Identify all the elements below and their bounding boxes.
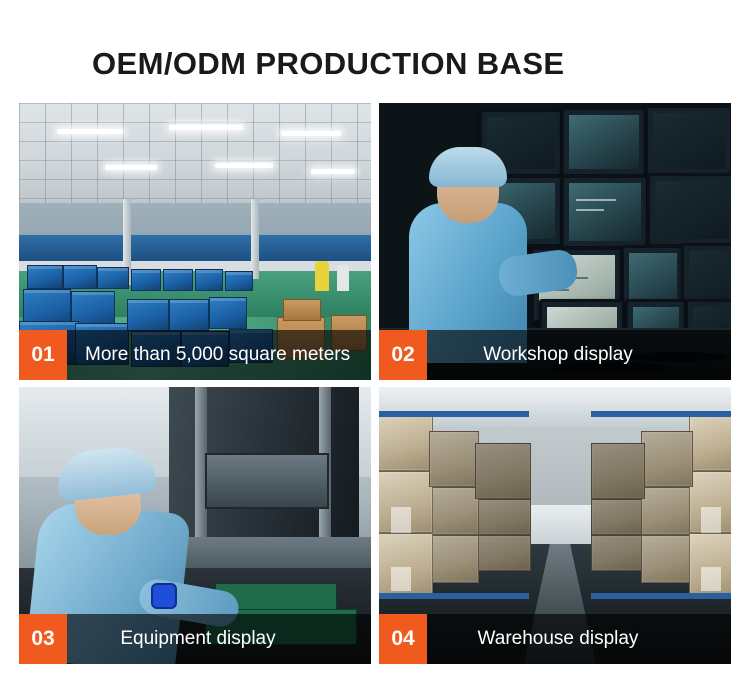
blue-crate [131, 269, 161, 291]
carton [591, 443, 645, 499]
blue-crate [195, 269, 223, 291]
carton-label [391, 507, 411, 533]
card-04-caption: 04 Warehouse display [379, 614, 731, 664]
card-02-caption: 02 Workshop display [379, 330, 731, 380]
monitor [561, 107, 647, 177]
press-head [205, 453, 329, 509]
worker [315, 261, 329, 291]
card-02-number: 02 [379, 330, 427, 380]
card-02[interactable]: 02 Workshop display [379, 103, 731, 380]
carton-label [701, 507, 721, 533]
carton [641, 487, 693, 535]
ceiling-light [57, 129, 123, 134]
card-03-caption: 03 Equipment display [19, 614, 371, 664]
carton [591, 499, 645, 535]
card-01[interactable]: 01 More than 5,000 square meters [19, 103, 371, 380]
card-03[interactable]: 03 Equipment display [19, 387, 371, 664]
carton-stack [283, 299, 321, 321]
rack-beam [379, 411, 529, 417]
rack-beam [591, 411, 731, 417]
blue-crate [163, 269, 193, 291]
ceiling-light [215, 163, 273, 168]
blue-crate [97, 267, 129, 289]
shelf-band-upper [19, 235, 371, 261]
page-title: OEM/ODM PRODUCTION BASE [0, 21, 750, 85]
rack-beam [379, 593, 529, 599]
wrist-watch [151, 583, 177, 609]
worker [337, 265, 349, 291]
carton [379, 415, 433, 471]
blue-crate [225, 271, 253, 291]
card-04[interactable]: 04 Warehouse display [379, 387, 731, 664]
blue-crate [27, 265, 63, 289]
ceiling [19, 103, 371, 215]
blue-crate [169, 299, 209, 331]
ceiling-light [105, 165, 157, 170]
ceiling-grid [19, 103, 371, 215]
card-04-number: 04 [379, 614, 427, 664]
carton [641, 535, 693, 583]
card-01-number: 01 [19, 330, 67, 380]
carton [429, 431, 479, 487]
carton-label [391, 567, 411, 591]
carton [689, 415, 731, 471]
blue-crate [127, 299, 169, 331]
carton [475, 443, 531, 499]
photo-grid: 01 More than 5,000 square meters [19, 103, 731, 664]
production-base-page: OEM/ODM PRODUCTION BASE [0, 21, 750, 696]
carton [429, 487, 479, 535]
worker-cap [429, 147, 507, 187]
card-01-caption: 01 More than 5,000 square meters [19, 330, 371, 380]
rack-beam [591, 593, 731, 599]
card-03-label: Equipment display [67, 628, 371, 650]
card-02-label: Workshop display [427, 344, 731, 366]
carton [591, 535, 645, 571]
card-04-label: Warehouse display [427, 628, 731, 650]
card-03-number: 03 [19, 614, 67, 664]
carton [429, 535, 479, 583]
carton-label [701, 567, 721, 591]
monitor [647, 173, 731, 247]
card-01-label: More than 5,000 square meters [67, 344, 350, 366]
blue-crate [209, 297, 247, 329]
carton [641, 431, 693, 487]
blue-crate [63, 265, 97, 289]
monitor [561, 175, 649, 249]
monitor [645, 105, 731, 177]
ceiling-light [281, 131, 341, 136]
carton [475, 535, 531, 571]
pillar [251, 199, 259, 279]
ceiling-light [169, 125, 243, 130]
carton [475, 499, 531, 535]
ceiling-light [311, 169, 355, 174]
